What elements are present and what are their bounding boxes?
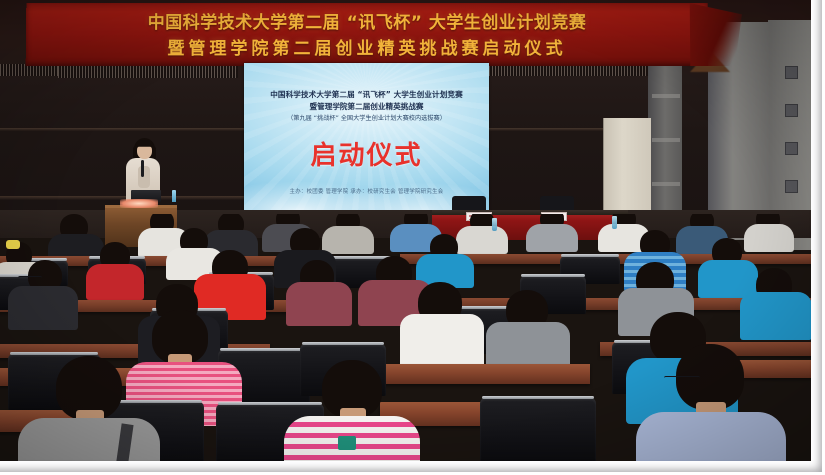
red-event-banner: 中国科学技术大学第二届 “讯飞杯” 大学生创业计划竞赛 暨管理学院第二届创业精英… <box>26 3 709 66</box>
kappa-logo-icon <box>338 436 356 450</box>
microphone-icon <box>141 160 144 177</box>
audience-body <box>400 314 484 368</box>
audience-body <box>286 282 352 326</box>
slide-footer: 主办：校团委 管理学院 承办：校研究生会 管理学院研究生会 <box>244 187 489 195</box>
column-shelf <box>652 138 680 142</box>
auditorium-photograph: 中国科学技术大学第二届 “讯飞杯” 大学生创业计划竞赛 暨管理学院第二届创业精英… <box>0 0 811 461</box>
wall-panel-square <box>785 104 798 117</box>
audience-body <box>456 226 508 254</box>
slide-line-1: 中国科学技术大学第二届 “讯飞杯” 大学生创业计划竞赛 <box>244 89 489 100</box>
glasses-icon <box>18 276 42 280</box>
water-bottle <box>612 216 617 229</box>
glasses-icon <box>664 376 700 380</box>
slide-line-2: 暨管理学院第二届创业精英挑战赛 <box>244 101 489 112</box>
hair-clip <box>6 240 20 249</box>
audience-seating-area <box>0 214 811 461</box>
podium-water-bottle <box>172 190 176 202</box>
wall-panel-square <box>785 66 798 79</box>
slide-title: 启动仪式 <box>244 135 489 172</box>
audience-body <box>740 292 811 340</box>
audience-body <box>526 224 578 252</box>
seat-back <box>480 398 596 461</box>
water-bottle <box>492 218 497 231</box>
column-shelf <box>652 182 680 186</box>
audience-body <box>744 224 794 252</box>
wall-panel-square <box>785 180 798 193</box>
photo-frame: 中国科学技术大学第二届 “讯飞杯” 大学生创业计划竞赛 暨管理学院第二届创业精英… <box>0 0 825 475</box>
audience-body <box>322 226 374 254</box>
projection-screen: 中国科学技术大学第二届 “讯飞杯” 大学生创业计划竞赛 暨管理学院第二届创业精英… <box>244 63 489 211</box>
banner-line-1: 中国科学技术大学第二届 “讯飞杯” 大学生创业计划竞赛 <box>26 8 708 33</box>
wall-panel-square <box>785 142 798 155</box>
audience-body <box>18 418 160 461</box>
speaker-arm <box>138 166 150 188</box>
audience-body <box>86 264 144 300</box>
audience-body <box>8 286 78 330</box>
slide-line-3: （第九届 “挑战杯” 全国大学生创业计划大赛校内选拔赛） <box>244 113 489 122</box>
column-shelf <box>652 94 680 98</box>
audience-body <box>636 412 786 461</box>
wall-grille-strip <box>58 66 238 78</box>
podium-light-glow <box>120 199 158 208</box>
banner-line-2: 暨管理学院第二届创业精英挑战赛启动仪式 <box>26 34 708 59</box>
